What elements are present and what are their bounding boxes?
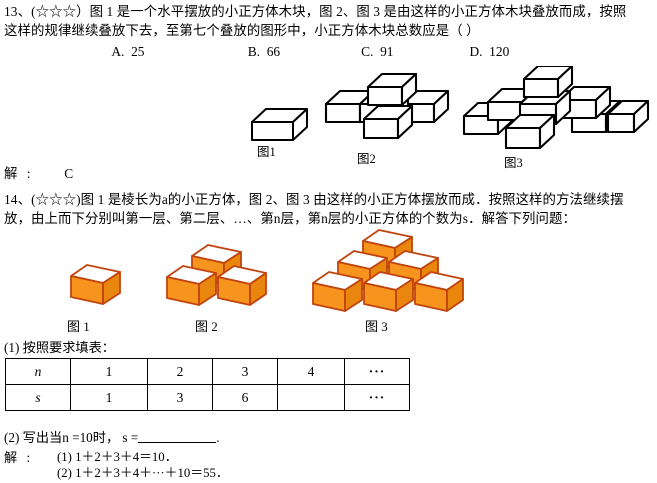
part-2-prefix: (2) 写出当n =10时， s =: [4, 430, 138, 445]
table-row: n 1 2 3 4 ···: [6, 359, 410, 385]
wire-figure-2: [324, 72, 450, 142]
orange-figure-1: [68, 262, 134, 312]
cell-s-1[interactable]: 1: [71, 385, 148, 411]
worksheet-page: 13、(☆☆☆）图 1 是一个水平摆放的小正方体木块，图 2、图 3 是由这样的…: [0, 0, 657, 483]
wire-figure-1-label: 图1: [257, 141, 276, 160]
answer-label: 解 :: [4, 166, 33, 181]
cell-n-1[interactable]: 1: [71, 359, 148, 385]
orange-figure-2: [165, 243, 269, 315]
orange-figure-1-label: 图 1: [67, 316, 90, 335]
orange-figure-3: [310, 228, 466, 316]
choice-d-value: 120: [489, 44, 509, 61]
cell-n-3[interactable]: 3: [213, 359, 278, 385]
choice-d-key: D.: [469, 44, 482, 61]
question-13-line-2: 这样的规律继续叠放下去，至第七个叠放的图形中，小正方体木块总数应是（ ）: [4, 23, 480, 40]
question-14-line-1: 14、(☆☆☆)图 1 是棱长为a的小正方体，图 2、图 3 由这样的小正方体摆…: [4, 192, 624, 209]
choice-c-value: 91: [380, 44, 393, 61]
choice-d[interactable]: D. 120: [469, 44, 509, 61]
choice-a-key: A.: [111, 44, 124, 61]
row-header-s: s: [6, 385, 71, 411]
cell-s-3[interactable]: 6: [213, 385, 278, 411]
wire-figure-3: [462, 66, 652, 152]
wire-figure-2-label: 图2: [357, 148, 376, 167]
choice-b[interactable]: B. 66: [248, 44, 358, 61]
cell-s-4-empty[interactable]: [278, 385, 345, 411]
choice-c-key: C.: [361, 44, 373, 61]
cell-n-ellipsis: ···: [345, 359, 410, 385]
choice-b-key: B.: [248, 44, 260, 61]
part-1-label: (1) 按照要求填表：: [4, 340, 115, 357]
wire-figure-1: [250, 106, 310, 146]
choice-a[interactable]: A. 25: [111, 44, 244, 61]
choice-c[interactable]: C. 91: [361, 44, 466, 61]
part-2-suffix: .: [216, 430, 219, 445]
answer-value: C: [64, 166, 73, 181]
table-row: s 1 3 6 ···: [6, 385, 410, 411]
question-13-line-1: 13、(☆☆☆）图 1 是一个水平摆放的小正方体木块，图 2、图 3 是由这样的…: [4, 4, 626, 21]
question-13-answer: 解 : C: [4, 166, 73, 183]
answer-blank-input[interactable]: [138, 430, 216, 443]
wire-figure-3-label: 图3: [504, 152, 523, 171]
choice-a-value: 25: [131, 44, 144, 61]
question-13-choices: A. 25 B. 66 C. 91 D. 120: [4, 44, 509, 61]
orange-figure-2-label: 图 2: [195, 316, 218, 335]
solution-item-1: (1) 1＋2＋3＋4＝10．: [57, 450, 178, 466]
choice-b-value: 66: [267, 44, 280, 61]
question-14-line-2: 放，由上而下分别叫第一层、第二层、…、第n层，第n层的小正方体的个数为s．解答下…: [4, 211, 576, 228]
part-2-prompt: (2) 写出当n =10时， s =.: [4, 430, 220, 447]
cell-n-4[interactable]: 4: [278, 359, 345, 385]
row-header-n: n: [6, 359, 71, 385]
cell-n-2[interactable]: 2: [148, 359, 213, 385]
cell-s-ellipsis: ···: [345, 385, 410, 411]
solution-item-2: (2) 1＋2＋3＋4＋···＋10＝55．: [57, 466, 229, 482]
fill-in-table: n 1 2 3 4 ··· s 1 3 6 ···: [5, 358, 410, 411]
cell-s-2[interactable]: 3: [148, 385, 213, 411]
solution-label: 解 :: [4, 450, 33, 467]
orange-figure-3-label: 图 3: [365, 316, 388, 335]
